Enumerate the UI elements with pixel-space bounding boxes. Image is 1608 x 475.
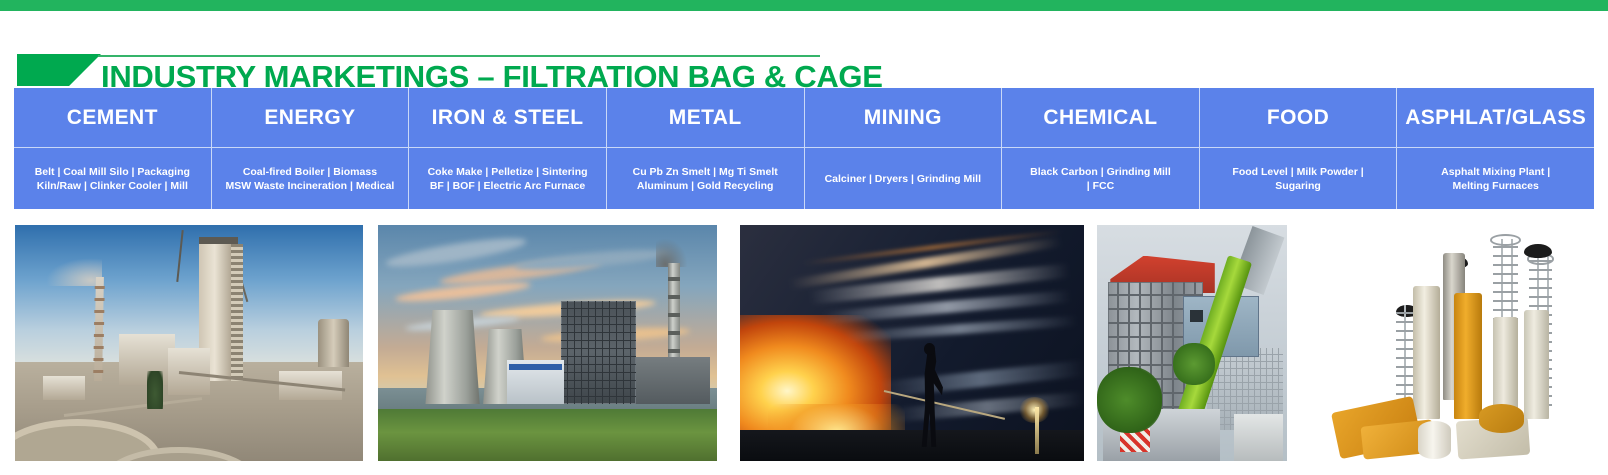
industry-column-asphalt-glass[interactable]: ASPHLAT/GLASS Asphalt Mixing Plant |Melt… <box>1397 88 1594 209</box>
felt-roll-orange-3 <box>1479 404 1523 432</box>
smoke-plume <box>46 258 102 286</box>
bag-collar-white <box>1418 421 1451 459</box>
foliage-lower <box>1097 367 1162 433</box>
plant-building-c <box>43 376 85 400</box>
east-plant-block <box>636 357 711 404</box>
title-rule-top <box>98 55 820 57</box>
industry-name-asphalt-glass: ASPHLAT/GLASS <box>1397 88 1594 148</box>
cooling-tower-large <box>425 310 479 404</box>
industry-column-cement[interactable]: CEMENT Belt | Coal Mill Silo | Packaging… <box>14 88 212 209</box>
industry-name-mining: MINING <box>805 88 1002 148</box>
chimney-stack <box>94 277 104 381</box>
industry-name-chemical: CHEMICAL <box>1002 88 1199 148</box>
filter-bag-cream-2 <box>1493 317 1518 418</box>
industry-applications-iron-steel: Coke Make | Pelletize | SinteringBF | BO… <box>409 148 606 209</box>
tree <box>147 371 163 409</box>
industry-applications-cement: Belt | Coal Mill Silo | PackagingKiln/Ra… <box>14 148 211 209</box>
filter-bag-orange <box>1454 293 1482 418</box>
construction-site-photo <box>1097 225 1287 461</box>
steel-mill-photo <box>740 225 1084 461</box>
grass-field <box>378 409 717 461</box>
top-green-bar <box>0 0 1608 11</box>
concrete-block <box>1234 414 1283 461</box>
industry-name-cement: CEMENT <box>14 88 211 148</box>
industry-column-mining[interactable]: MINING Calciner | Dryers | Grinding Mill <box>805 88 1003 209</box>
industry-applications-energy: Coal-fired Boiler | BiomassMSW Waste Inc… <box>212 148 409 209</box>
turbine-hall <box>507 360 565 405</box>
worker-helmet <box>924 343 935 355</box>
industry-applications-food: Food Level | Milk Powder |Sugaring <box>1200 148 1397 209</box>
title-block: INDUSTRY MARKETINGS – FILTRATION BAG & C… <box>0 24 1608 82</box>
industry-applications-asphalt-glass: Asphalt Mixing Plant |Melting Furnaces <box>1397 148 1594 209</box>
industry-column-metal[interactable]: METAL Cu Pb Zn Smelt | Mg Ti SmeltAlumin… <box>607 88 805 209</box>
filter-bag-far-right <box>1524 310 1549 419</box>
industry-column-iron-steel[interactable]: IRON & STEEL Coke Make | Pelletize | Sin… <box>409 88 607 209</box>
industry-applications-chemical: Black Carbon | Grinding Mill| FCC <box>1002 148 1199 209</box>
industry-column-energy[interactable]: ENERGY Coal-fired Boiler | BiomassMSW Wa… <box>212 88 410 209</box>
industry-name-food: FOOD <box>1200 88 1397 148</box>
mill-floor <box>740 430 1084 461</box>
industry-name-energy: ENERGY <box>212 88 409 148</box>
industry-applications-mining: Calciner | Dryers | Grinding Mill <box>805 148 1002 209</box>
green-wedge-shape <box>17 54 101 86</box>
filter-bags-cages-photo <box>1318 225 1596 461</box>
elevator-shaft <box>231 244 243 381</box>
power-plant-photo <box>378 225 717 461</box>
filter-bag-cap-far-right <box>1524 244 1552 258</box>
lamp-glow <box>1019 397 1050 423</box>
foliage-upper <box>1173 343 1215 385</box>
filter-bag-cream-1 <box>1413 286 1441 418</box>
casing-opening-1 <box>1190 310 1203 322</box>
floor-lamp <box>1035 407 1039 454</box>
industry-table: CEMENT Belt | Coal Mill Silo | Packaging… <box>14 88 1594 209</box>
industry-name-iron-steel: IRON & STEEL <box>409 88 606 148</box>
industry-column-food[interactable]: FOOD Food Level | Milk Powder |Sugaring <box>1200 88 1398 209</box>
industry-name-metal: METAL <box>607 88 804 148</box>
industry-column-chemical[interactable]: CHEMICAL Black Carbon | Grinding Mill| F… <box>1002 88 1200 209</box>
industry-applications-metal: Cu Pb Zn Smelt | Mg Ti SmeltAluminum | G… <box>607 148 804 209</box>
boiler-house <box>561 301 636 405</box>
cement-plant-photo <box>15 225 363 461</box>
storage-silo <box>318 319 349 366</box>
photo-strip <box>0 225 1608 461</box>
